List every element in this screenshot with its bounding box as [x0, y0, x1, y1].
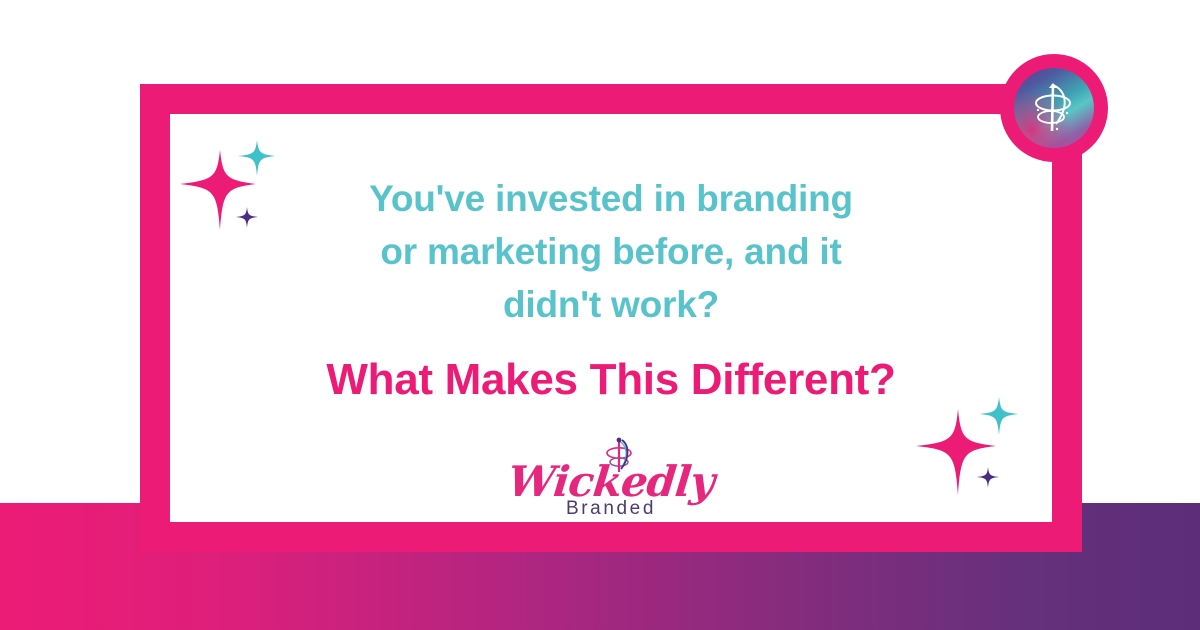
subhead-text: You've invested in branding or marketing…: [170, 172, 1052, 331]
subhead-line-2: or marketing before, and it: [170, 225, 1052, 278]
badge-gradient-disc: [1014, 68, 1094, 148]
content-card: You've invested in branding or marketing…: [140, 84, 1082, 552]
page-title: What Makes This Different?: [170, 331, 1052, 405]
magic-wand-swirl-icon: [1023, 77, 1085, 139]
brand-logo-subtext: Branded: [506, 498, 716, 520]
headline-block: You've invested in branding or marketing…: [170, 172, 1052, 405]
sparkle-medium-teal-icon: [238, 140, 276, 176]
subhead-line-1: You've invested in branding: [170, 172, 1052, 225]
slide-canvas: You've invested in branding or marketing…: [0, 0, 1200, 630]
brand-logo-mark: Wickedly Branded: [506, 448, 716, 526]
brand-logo: Wickedly Branded: [170, 448, 1052, 526]
content-card-inner: You've invested in branding or marketing…: [170, 114, 1052, 522]
corner-badge: [1000, 54, 1108, 162]
subhead-line-3: didn't work?: [170, 278, 1052, 331]
